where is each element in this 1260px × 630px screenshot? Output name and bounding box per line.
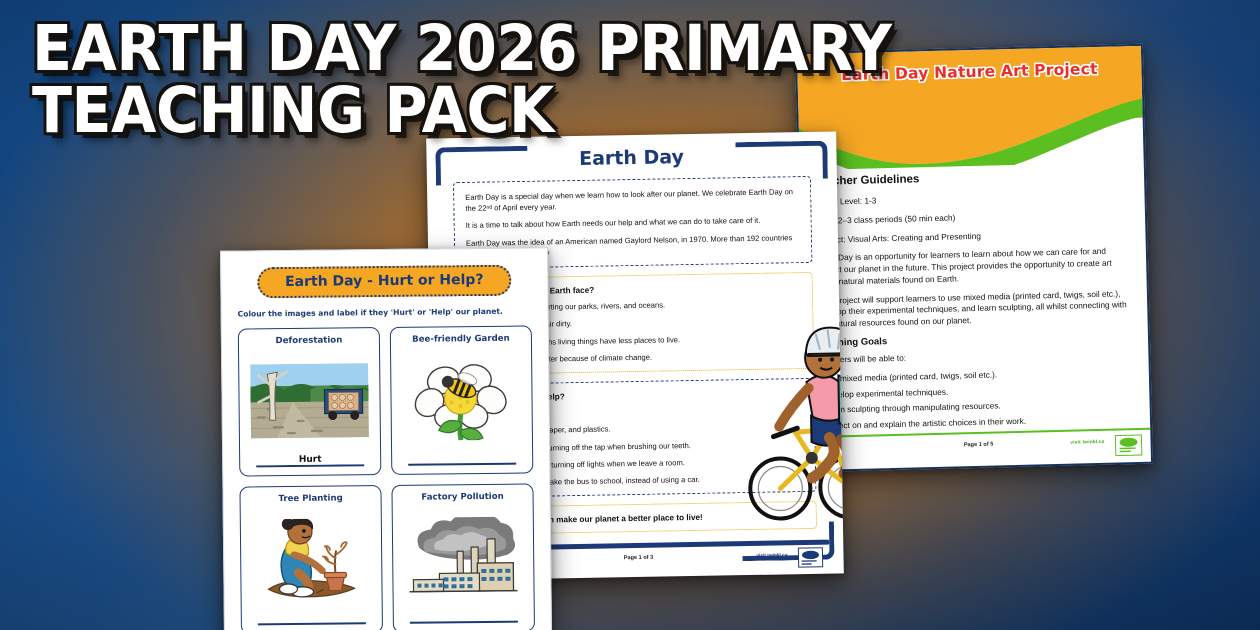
activity-card-bee-friendly-garden[interactable]: Bee-friendly Garden	[390, 325, 534, 474]
activity-card-tree-planting[interactable]: Tree Planting	[239, 485, 383, 630]
nature-art-body: Teacher Guidelines Grade Level: 1-3 Time…	[800, 160, 1150, 433]
worksheet-nature-art-project[interactable]: Earth Day Nature Art Project Teacher Gui…	[795, 44, 1153, 472]
card-caption: Bee-friendly Garden	[412, 334, 510, 345]
page-title: EARTH DAY 2026 PRIMARY TEACHING PACK	[32, 18, 683, 143]
headline-line-1: EARTH DAY 2026 PRIMARY	[32, 18, 683, 80]
card-caption: Deforestation	[275, 335, 342, 346]
meta-subject: Subject: Visual Arts: Creating and Prese…	[815, 227, 1131, 246]
learning-goals-list: Use mixed media (printed card, twigs, so…	[819, 366, 1136, 433]
answer-row[interactable]: Hurt	[256, 451, 364, 467]
activity-card-deforestation[interactable]: Deforestation	[238, 327, 382, 476]
learning-goals-intro: Learners will be able to:	[818, 347, 1134, 366]
intro-paragraph-2: It is a time to talk about how Earth nee…	[466, 215, 800, 232]
answer-line	[408, 463, 516, 466]
answer-line	[410, 621, 518, 624]
card-caption: Tree Planting	[278, 493, 342, 504]
learning-goals-heading: Learning Goals	[818, 330, 1134, 349]
intro-paragraph-1: Earth Day is a special day when we learn…	[465, 186, 799, 214]
activity-card-grid: Deforestation	[222, 315, 551, 630]
headline-line-2: TEACHING PACK	[32, 80, 683, 142]
cyclist-illustration	[743, 309, 844, 541]
answer-row[interactable]	[408, 450, 516, 466]
nature-art-intro-1: Earth Day is an opportunity for learners…	[816, 245, 1133, 288]
meta-time: Time: 2–3 class periods (50 min each)	[815, 208, 1131, 227]
activity-card-factory-pollution[interactable]: Factory Pollution	[391, 483, 535, 630]
card-illustration	[399, 506, 528, 609]
card-caption: Factory Pollution	[421, 492, 504, 503]
teacher-guidelines-heading: Teacher Guidelines	[814, 168, 1130, 188]
hurt-or-help-title: Earth Day - Hurt or Help?	[257, 265, 512, 299]
hurt-or-help-title-wrap: Earth Day - Hurt or Help?	[221, 248, 547, 298]
meta-grade-level: Grade Level: 1-3	[814, 189, 1130, 208]
twinkl-logo-icon	[1114, 433, 1143, 458]
deforestation-illustration	[250, 363, 369, 438]
brand-text: visit twinkl.ca	[756, 553, 787, 559]
brand-text: visit twinkl.ca	[1070, 440, 1104, 446]
nature-art-footer: Page 1 of 5 visit twinkl.ca	[806, 428, 1151, 470]
answer-row[interactable]	[258, 609, 366, 625]
bee-on-flower-illustration	[409, 358, 514, 441]
twinkl-logo-icon	[797, 547, 823, 569]
card-illustration	[397, 348, 526, 451]
nature-art-intro-2: This project will support learners to us…	[817, 288, 1134, 331]
child-planting-tree-illustration	[258, 518, 365, 599]
factory-smoke-illustration	[405, 517, 522, 598]
answer-row[interactable]	[410, 608, 518, 624]
card-illustration	[247, 507, 376, 610]
answer-line	[258, 623, 366, 626]
answer-value: Hurt	[256, 454, 364, 465]
card-illustration	[245, 349, 374, 452]
worksheet-hurt-or-help[interactable]: Earth Day - Hurt or Help? Colour the ima…	[220, 247, 552, 630]
